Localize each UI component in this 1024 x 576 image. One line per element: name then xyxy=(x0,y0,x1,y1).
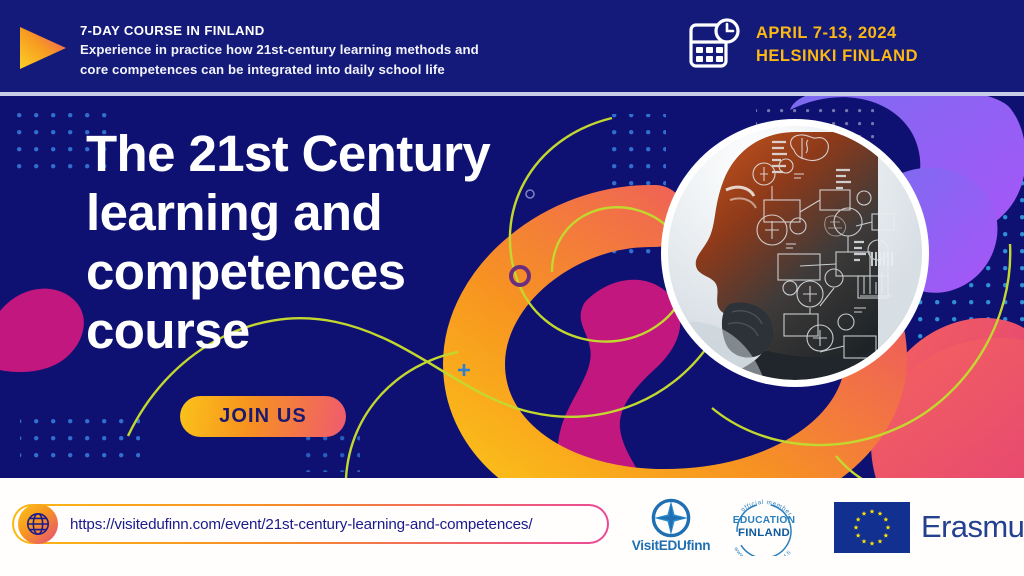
date-location-block: APRIL 7-13, 2024 HELSINKI FINLAND xyxy=(688,18,918,70)
headline-text: The 21st Century learning and competence… xyxy=(86,124,586,360)
globe-icon xyxy=(18,504,58,544)
hero-portrait-frame xyxy=(661,119,929,387)
education-finland-center-text: EDUCATION FINLAND xyxy=(720,515,808,540)
event-date: APRIL 7-13, 2024 xyxy=(756,22,918,45)
education-finland-line2: FINLAND xyxy=(720,527,808,540)
education-finland-badge[interactable]: official member www.educationfinland.fi … xyxy=(720,498,808,556)
event-location: HELSINKI FINLAND xyxy=(756,45,918,68)
footer-bar: https://visitedufinn.com/event/21st-cent… xyxy=(0,478,1024,576)
erasmus-plus-label: Erasmus+ xyxy=(921,509,1024,545)
hero-section: The 21st Century learning and competence… xyxy=(0,96,1024,478)
date-text-block: APRIL 7-13, 2024 HELSINKI FINLAND xyxy=(756,20,918,68)
compass-star-icon xyxy=(650,497,692,539)
visitedufinn-label: VisitEDUfinn xyxy=(624,538,718,553)
play-triangle-icon xyxy=(14,24,70,72)
join-us-button[interactable]: JOIN US xyxy=(180,396,346,437)
partner-logos: VisitEDUfinn official member www.educati… xyxy=(624,496,1018,558)
education-finland-line1: EDUCATION xyxy=(720,515,808,527)
event-url-pill[interactable]: https://visitedufinn.com/event/21st-cent… xyxy=(12,504,609,544)
event-url-text: https://visitedufinn.com/event/21st-cent… xyxy=(70,516,532,533)
top-bar-text-block: 7-DAY COURSE IN FINLAND Experience in pr… xyxy=(80,21,479,80)
top-bar-divider xyxy=(0,92,1024,96)
course-description-line2: core competences can be integrated into … xyxy=(80,60,479,80)
calendar-clock-icon xyxy=(688,18,742,70)
eu-flag-icon xyxy=(834,502,910,553)
visitedufinn-logo[interactable]: VisitEDUfinn xyxy=(624,497,718,557)
hero-portrait-image xyxy=(668,126,922,380)
education-finland-bottom-arc: www.educationfinland.fi xyxy=(732,545,793,556)
course-description-line1: Experience in practice how 21st-century … xyxy=(80,40,479,60)
course-duration-label: 7-DAY COURSE IN FINLAND xyxy=(80,21,479,40)
svg-text:www.educationfinland.fi: www.educationfinland.fi xyxy=(732,545,793,556)
portrait-artwork xyxy=(668,126,922,380)
page-title: The 21st Century learning and competence… xyxy=(86,124,586,360)
erasmus-plus-logo[interactable]: Erasmus+ xyxy=(834,502,1024,553)
join-us-button-label: JOIN US xyxy=(219,405,307,428)
event-promo-banner: The 21st Century learning and competence… xyxy=(0,0,1024,576)
